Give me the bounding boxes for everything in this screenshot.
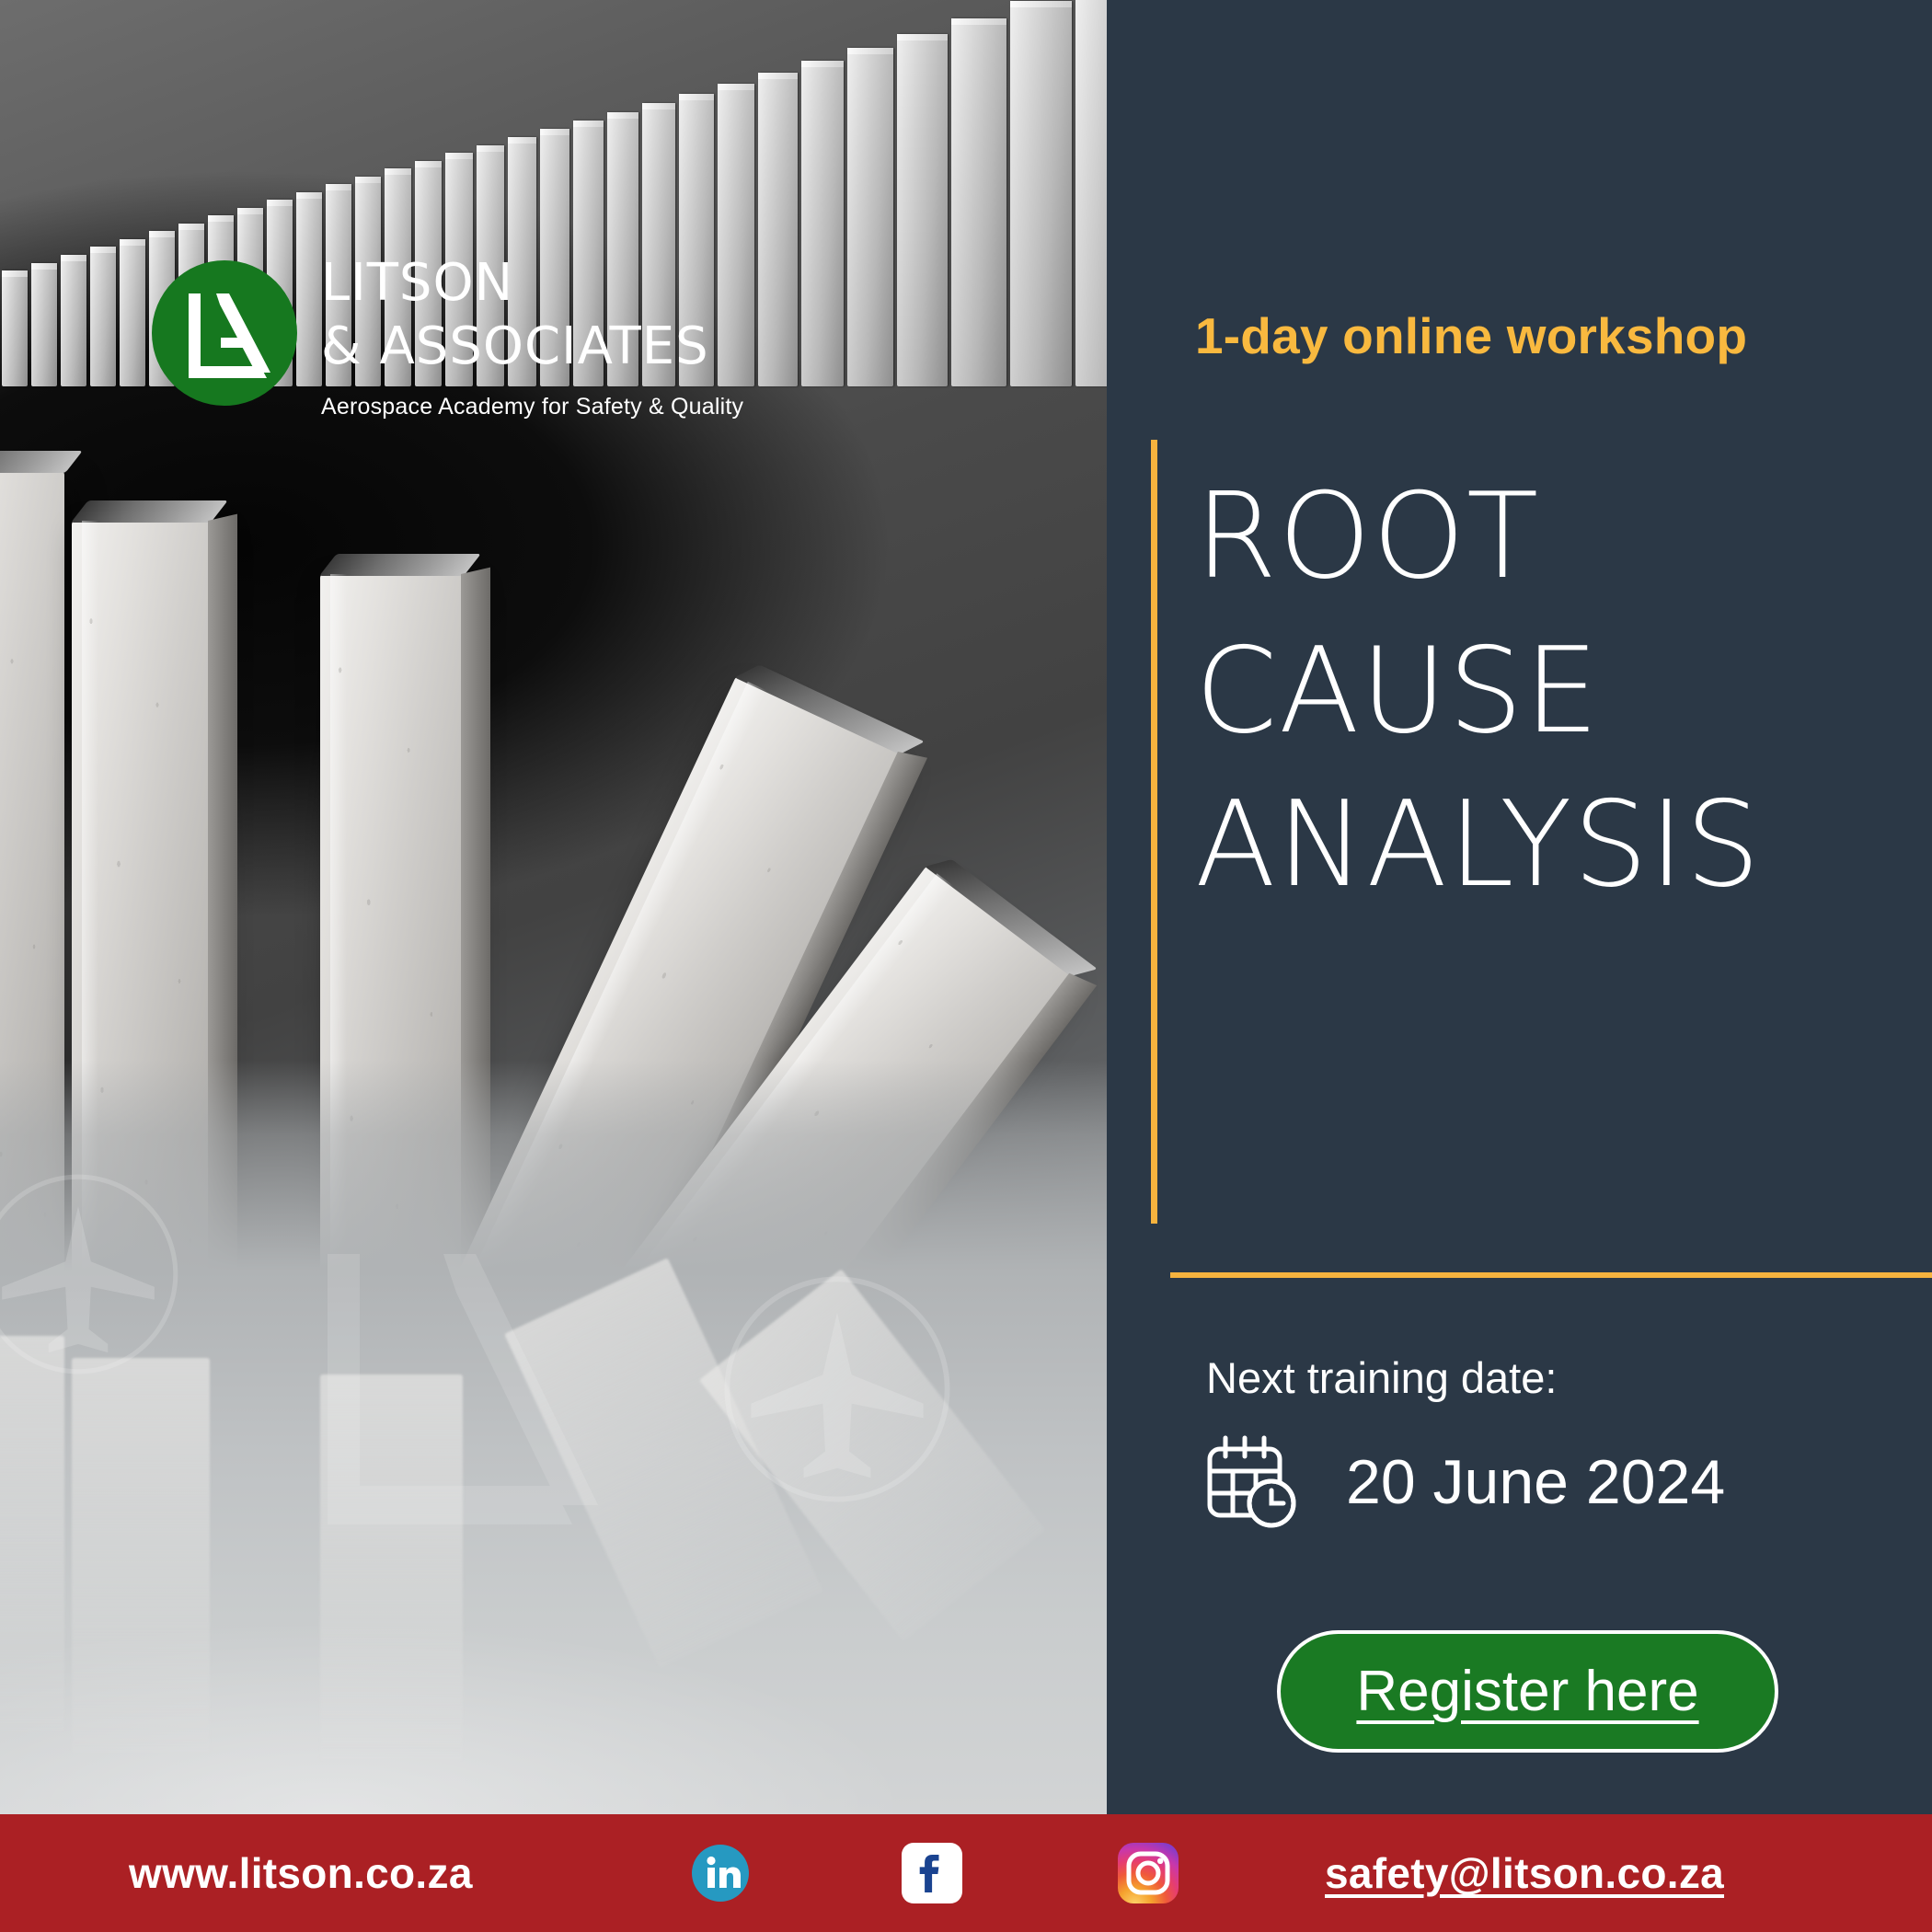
brand-line-1: LITSON	[321, 252, 743, 316]
instagram-icon[interactable]	[1118, 1843, 1179, 1903]
calendar-clock-icon	[1199, 1431, 1302, 1534]
title-line-1: ROOT	[1195, 460, 1913, 615]
next-training-date-value: 20 June 2024	[1346, 1446, 1725, 1518]
register-button-label: Register here	[1356, 1659, 1698, 1724]
email-link[interactable]: safety@litson.co.za	[1325, 1848, 1724, 1898]
domino-reflection-1	[0, 1336, 64, 1731]
poster-canvas: LITSON & ASSOCIATES Aerospace Academy fo…	[0, 0, 1932, 1932]
title-line-3: ANALYSIS	[1195, 768, 1913, 923]
gold-horizontal-divider	[1170, 1272, 1932, 1278]
aircraft-watermark-1	[0, 1168, 184, 1380]
contact-footer-bar: www.litson.co.za safety@litson.co.za	[0, 1814, 1932, 1932]
website-link[interactable]: www.litson.co.za	[129, 1848, 473, 1898]
brand-wordmark: LITSON & ASSOCIATES Aerospace Academy fo…	[321, 247, 743, 420]
domino-photograph: LITSON & ASSOCIATES Aerospace Academy fo…	[0, 0, 1107, 1814]
brand-line-2: & ASSOCIATES	[321, 316, 743, 379]
aircraft-watermark-2	[718, 1270, 957, 1509]
facebook-icon[interactable]	[902, 1843, 962, 1903]
page-title: ROOT CAUSE ANALYSIS	[1195, 460, 1913, 923]
workshop-kicker: 1-day online workshop	[1195, 306, 1747, 365]
next-training-date-row: 20 June 2024	[1199, 1431, 1725, 1534]
next-training-date-label: Next training date:	[1206, 1352, 1557, 1403]
linkedin-icon[interactable]	[692, 1845, 749, 1902]
brand-logo: LITSON & ASSOCIATES Aerospace Academy fo…	[152, 247, 743, 420]
register-button[interactable]: Register here	[1277, 1630, 1778, 1753]
monogram-watermark	[276, 1224, 662, 1555]
info-panel: 1-day online workshop ROOT CAUSE ANALYSI…	[1107, 0, 1932, 1814]
domino-reflection-2	[72, 1358, 210, 1754]
title-line-2: CAUSE	[1195, 615, 1913, 769]
litson-la-monogram-icon	[152, 260, 297, 406]
brand-tagline: Aerospace Academy for Safety & Quality	[321, 394, 743, 420]
gold-vertical-accent	[1151, 440, 1157, 1224]
